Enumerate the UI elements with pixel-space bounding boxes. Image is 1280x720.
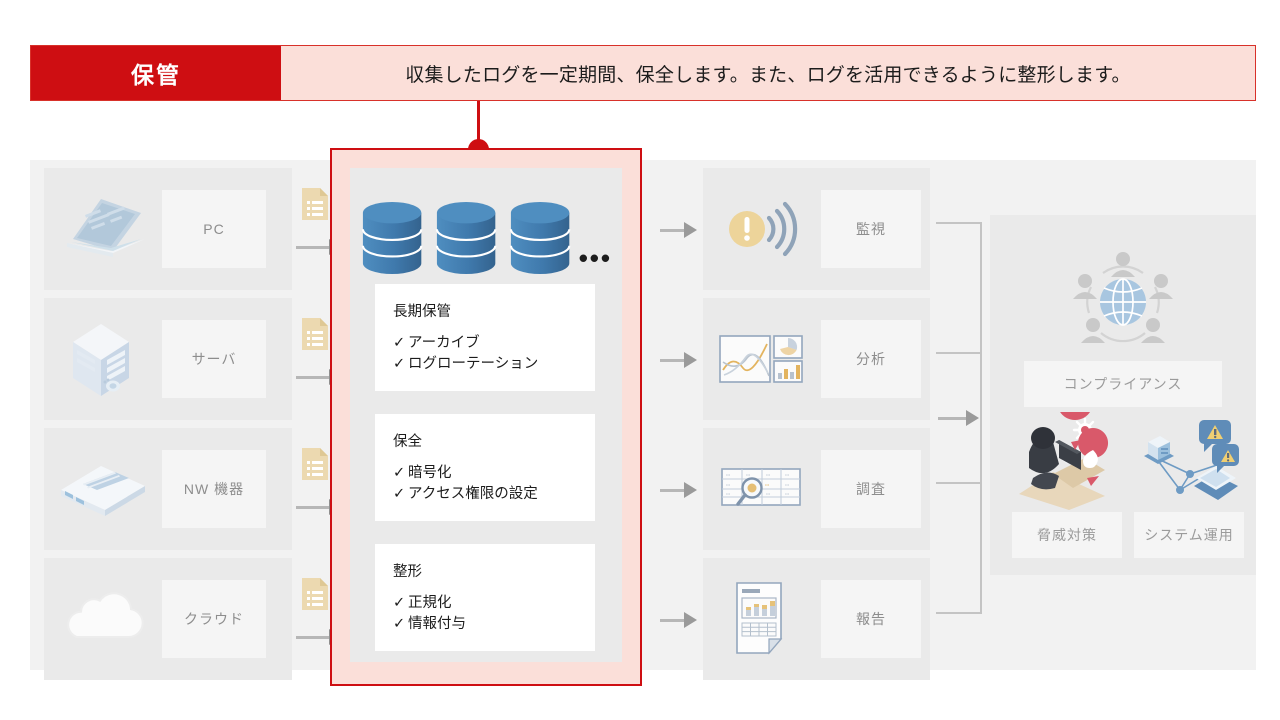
arrow-head-icon: [966, 410, 979, 426]
svg-text:•••: •••: [746, 472, 751, 477]
log-document-icon: [300, 316, 330, 357]
card-item: ✓ログローテーション: [393, 354, 595, 375]
card-item: ✓アクセス権限の設定: [393, 484, 595, 505]
arrow-line: [296, 636, 332, 639]
outcome-item-compliance[interactable]: コンプライアンス: [1024, 245, 1222, 407]
laptop-icon: [44, 168, 162, 290]
svg-text:•••: •••: [765, 482, 770, 487]
source-label-server: サーバ: [162, 320, 266, 398]
process-column: 監視: [660, 168, 930, 688]
svg-text:•••: •••: [785, 491, 790, 496]
hacker-threat-icon: [1012, 408, 1122, 512]
source-item-nw[interactable]: NW 機器: [44, 428, 292, 550]
database-cylinder-icon: [360, 198, 424, 278]
check-icon: ✓: [393, 614, 408, 635]
arrow-line: [296, 376, 332, 379]
arrow-line: [660, 229, 686, 232]
process-label-investigation: 調査: [821, 450, 921, 528]
storage-card-formatting: 整形 ✓正規化 ✓情報付与: [375, 544, 595, 651]
header-band: 保管 収集したログを一定期間、保全します。また、ログを活用できるように整形します…: [30, 45, 1256, 101]
source-label-nw: NW 機器: [162, 450, 266, 528]
database-ellipsis: •••: [579, 243, 612, 274]
arrow-line: [660, 489, 686, 492]
check-icon: ✓: [393, 354, 408, 375]
alert-broadcast-icon: [703, 168, 821, 290]
svg-text:•••: •••: [726, 472, 731, 477]
card-title: 長期保管: [393, 300, 595, 321]
source-item-cloud[interactable]: クラウド: [44, 558, 292, 680]
source-label-cloud: クラウド: [162, 580, 266, 658]
outcome-row-operations: 脅威対策: [1012, 408, 1244, 558]
arrow-head-icon: [684, 612, 697, 628]
header-description: 収集したログを一定期間、保全します。また、ログを活用できるように整形します。: [281, 46, 1255, 100]
system-network-alert-icon: [1134, 408, 1244, 512]
check-icon: ✓: [393, 484, 408, 505]
arrow-line: [660, 359, 686, 362]
arrow-line: [296, 506, 332, 509]
arrow-line: [660, 619, 686, 622]
arrow-head-icon: [684, 222, 697, 238]
storage-card-protection: 保全 ✓暗号化 ✓アクセス権限の設定: [375, 414, 595, 521]
log-document-icon: [300, 186, 330, 227]
storage-card-long-term: 長期保管 ✓アーカイブ ✓ログローテーション: [375, 284, 595, 391]
process-label-analysis: 分析: [821, 320, 921, 398]
source-item-pc[interactable]: PC: [44, 168, 292, 290]
process-item-monitor[interactable]: 監視: [660, 168, 930, 298]
network-switch-icon: [44, 428, 162, 550]
svg-text:•••: •••: [785, 472, 790, 477]
diagram-canvas: 保管 収集したログを一定期間、保全します。また、ログを活用できるように整形します…: [0, 0, 1280, 720]
card-item: ✓暗号化: [393, 463, 595, 484]
outcome-item-system-operation[interactable]: システム運用: [1134, 408, 1244, 558]
arrow-head-icon: [684, 352, 697, 368]
database-group: •••: [360, 190, 612, 278]
process-item-investigation[interactable]: •••••••••••• •••••• ••••••••• ••• 調査: [660, 428, 930, 558]
globe-people-network-icon: [1024, 245, 1222, 355]
process-label-monitor: 監視: [821, 190, 921, 268]
card-item: ✓情報付与: [393, 614, 595, 635]
process-item-report[interactable]: 報告: [660, 558, 930, 688]
check-icon: ✓: [393, 333, 408, 354]
source-column: PC: [44, 168, 292, 688]
process-label-report: 報告: [821, 580, 921, 658]
server-tower-icon: [44, 298, 162, 420]
process-item-analysis[interactable]: 分析: [660, 298, 930, 428]
arrow-head-icon: [684, 482, 697, 498]
svg-text:•••: •••: [785, 482, 790, 487]
source-label-pc: PC: [162, 190, 266, 268]
svg-text:•••: •••: [766, 472, 771, 477]
outcome-item-threat[interactable]: 脅威対策: [1012, 408, 1122, 558]
log-document-icon: [300, 576, 330, 617]
outcome-label-system-operation: システム運用: [1134, 512, 1244, 558]
svg-text:•••: •••: [726, 491, 731, 496]
outcome-label-compliance: コンプライアンス: [1024, 361, 1222, 407]
database-cylinder-icon: [508, 198, 572, 278]
outcome-label-threat: 脅威対策: [1012, 512, 1122, 558]
check-icon: ✓: [393, 463, 408, 484]
card-item: ✓正規化: [393, 593, 595, 614]
log-document-icon: [300, 446, 330, 487]
report-document-icon: [703, 558, 821, 680]
charts-analysis-icon: [703, 298, 821, 420]
card-item: ✓アーカイブ: [393, 333, 595, 354]
arrow-line: [296, 246, 332, 249]
header-label: 保管: [31, 46, 281, 100]
check-icon: ✓: [393, 593, 408, 614]
svg-text:•••: •••: [726, 482, 731, 487]
database-cylinder-icon: [434, 198, 498, 278]
card-title: 整形: [393, 560, 595, 581]
card-title: 保全: [393, 430, 595, 451]
source-item-server[interactable]: サーバ: [44, 298, 292, 420]
cloud-icon: [44, 558, 162, 680]
table-search-icon: •••••••••••• •••••• ••••••••• •••: [703, 428, 821, 550]
svg-text:•••: •••: [766, 491, 771, 496]
